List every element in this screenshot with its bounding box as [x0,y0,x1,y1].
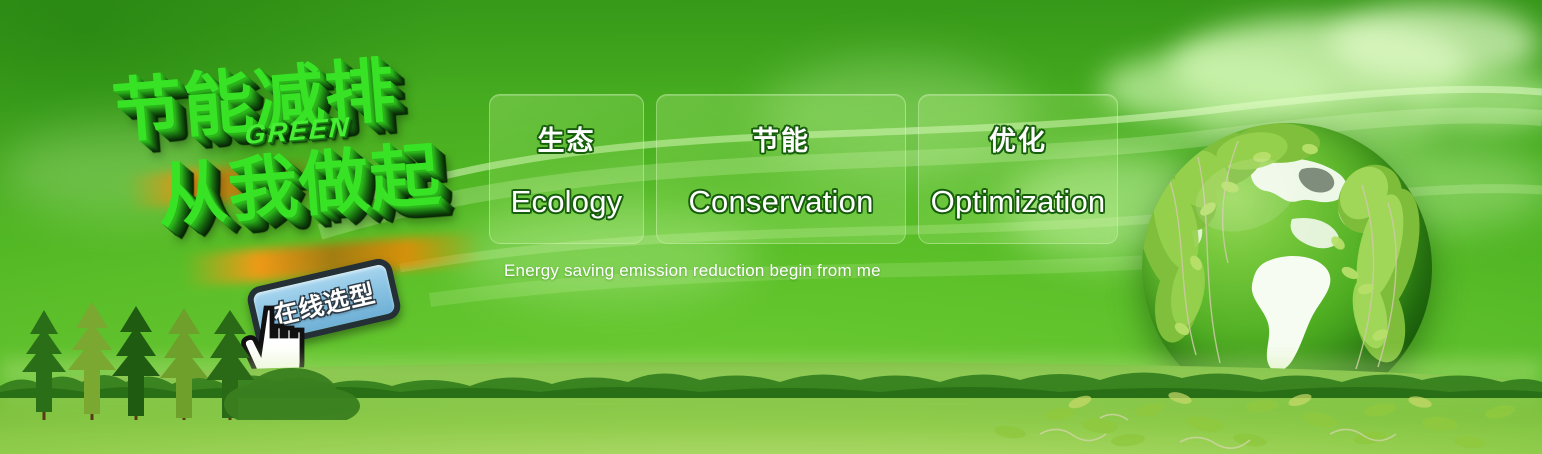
feature-card-title-cn: 节能 [752,119,810,158]
feature-card-title-cn: 优化 [989,119,1047,158]
feature-card-title-en: Ecology [511,184,623,220]
headline-3d: 节能减排 GREEN 从我做起 [88,19,505,280]
feature-card-optimization[interactable]: 优化 Optimization [918,94,1118,244]
feature-card-ecology[interactable]: 生态 Ecology [489,94,644,244]
feature-card-conservation[interactable]: 节能 Conservation [656,94,906,244]
banner-tagline: Energy saving emission reduction begin f… [504,261,881,281]
headline-line-2: 从我做起 [153,119,444,242]
feature-card-title-en: Optimization [931,184,1106,220]
feature-card-title-en: Conservation [688,184,873,220]
fallen-leaf-icon [0,384,1542,454]
feature-card-title-cn: 生态 [538,119,596,158]
feature-cards: 生态 Ecology 节能 Conservation 优化 Optimizati… [489,94,1118,244]
eco-banner: 节能减排 GREEN 从我做起 在线选型 生态 Ecology 节能 Conse… [0,0,1542,454]
